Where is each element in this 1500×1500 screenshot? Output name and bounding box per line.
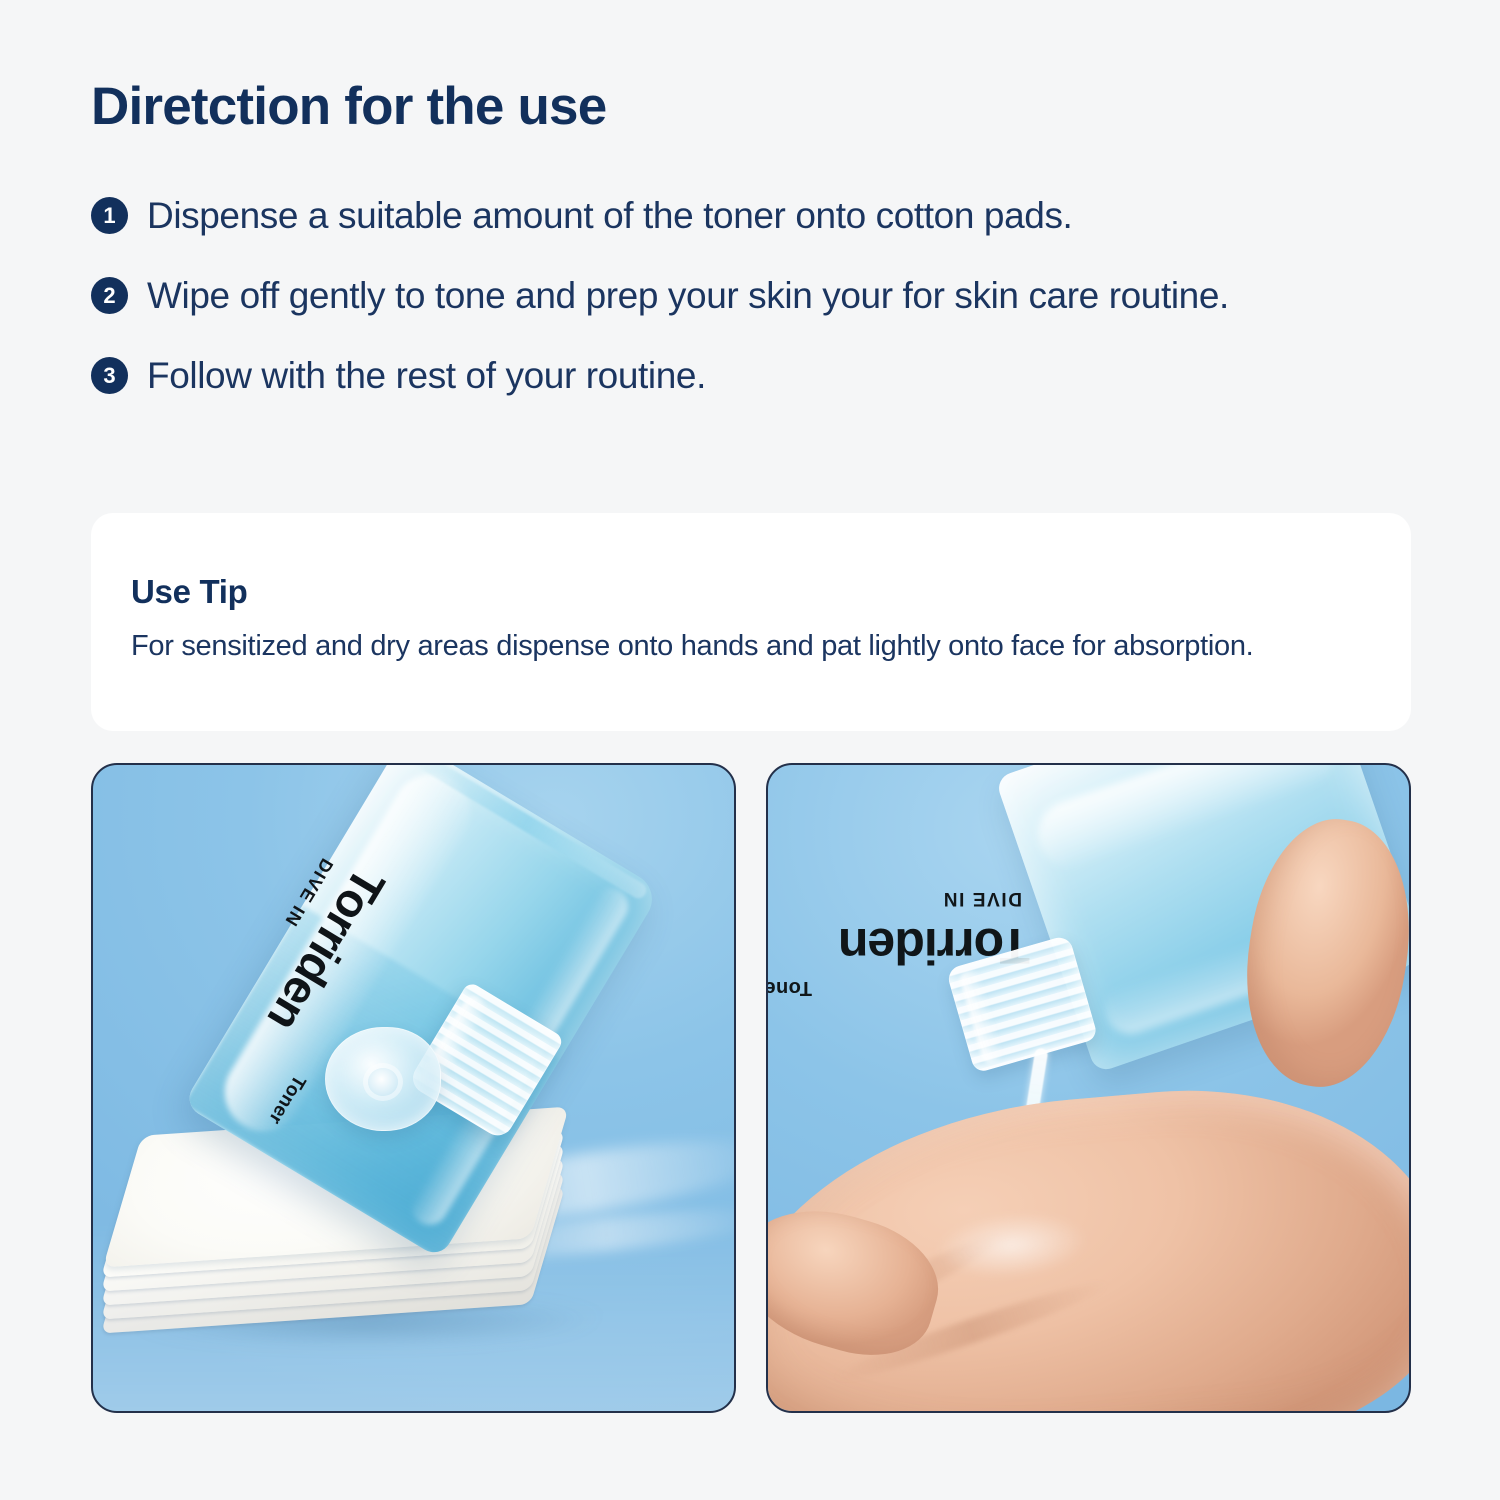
use-tip-body: For sensitized and dry areas dispense on…	[131, 627, 1371, 666]
use-tip-title: Use Tip	[131, 573, 1371, 611]
step-text: Wipe off gently to tone and prep your sk…	[147, 272, 1229, 320]
step-number-badge: 2	[91, 277, 128, 314]
product-photo-row: Torriden Toner DIVE IN Torriden Dive In …	[91, 763, 1411, 1413]
use-tip-card: Use Tip For sensitized and dry areas dis…	[91, 513, 1411, 731]
step-text: Follow with the rest of your routine.	[147, 352, 706, 400]
list-item: 2 Wipe off gently to tone and prep your …	[91, 272, 1411, 322]
product-direction-page: Diretction for the use 1 Dispense a suit…	[0, 0, 1500, 1500]
list-item: 3 Follow with the rest of your routine.	[91, 352, 1411, 402]
direction-steps-list: 1 Dispense a suitable amount of the tone…	[91, 192, 1411, 432]
product-line: DIVE IN	[942, 887, 1022, 909]
photo-cotton-pads: Torriden Toner DIVE IN Torriden Dive In …	[91, 763, 736, 1413]
photo-pour-into-palm: Torriden Toner DIVE IN Hand holding inve…	[766, 763, 1411, 1413]
step-text: Dispense a suitable amount of the toner …	[147, 192, 1072, 240]
palm-wet-highlight	[934, 1207, 1089, 1284]
step-number-badge: 1	[91, 197, 128, 234]
list-item: 1 Dispense a suitable amount of the tone…	[91, 192, 1411, 242]
product-type: Toner	[766, 976, 812, 999]
step-number-badge: 3	[91, 357, 128, 394]
bottle-flip-cap	[325, 1027, 441, 1131]
page-title: Diretction for the use	[91, 78, 606, 136]
